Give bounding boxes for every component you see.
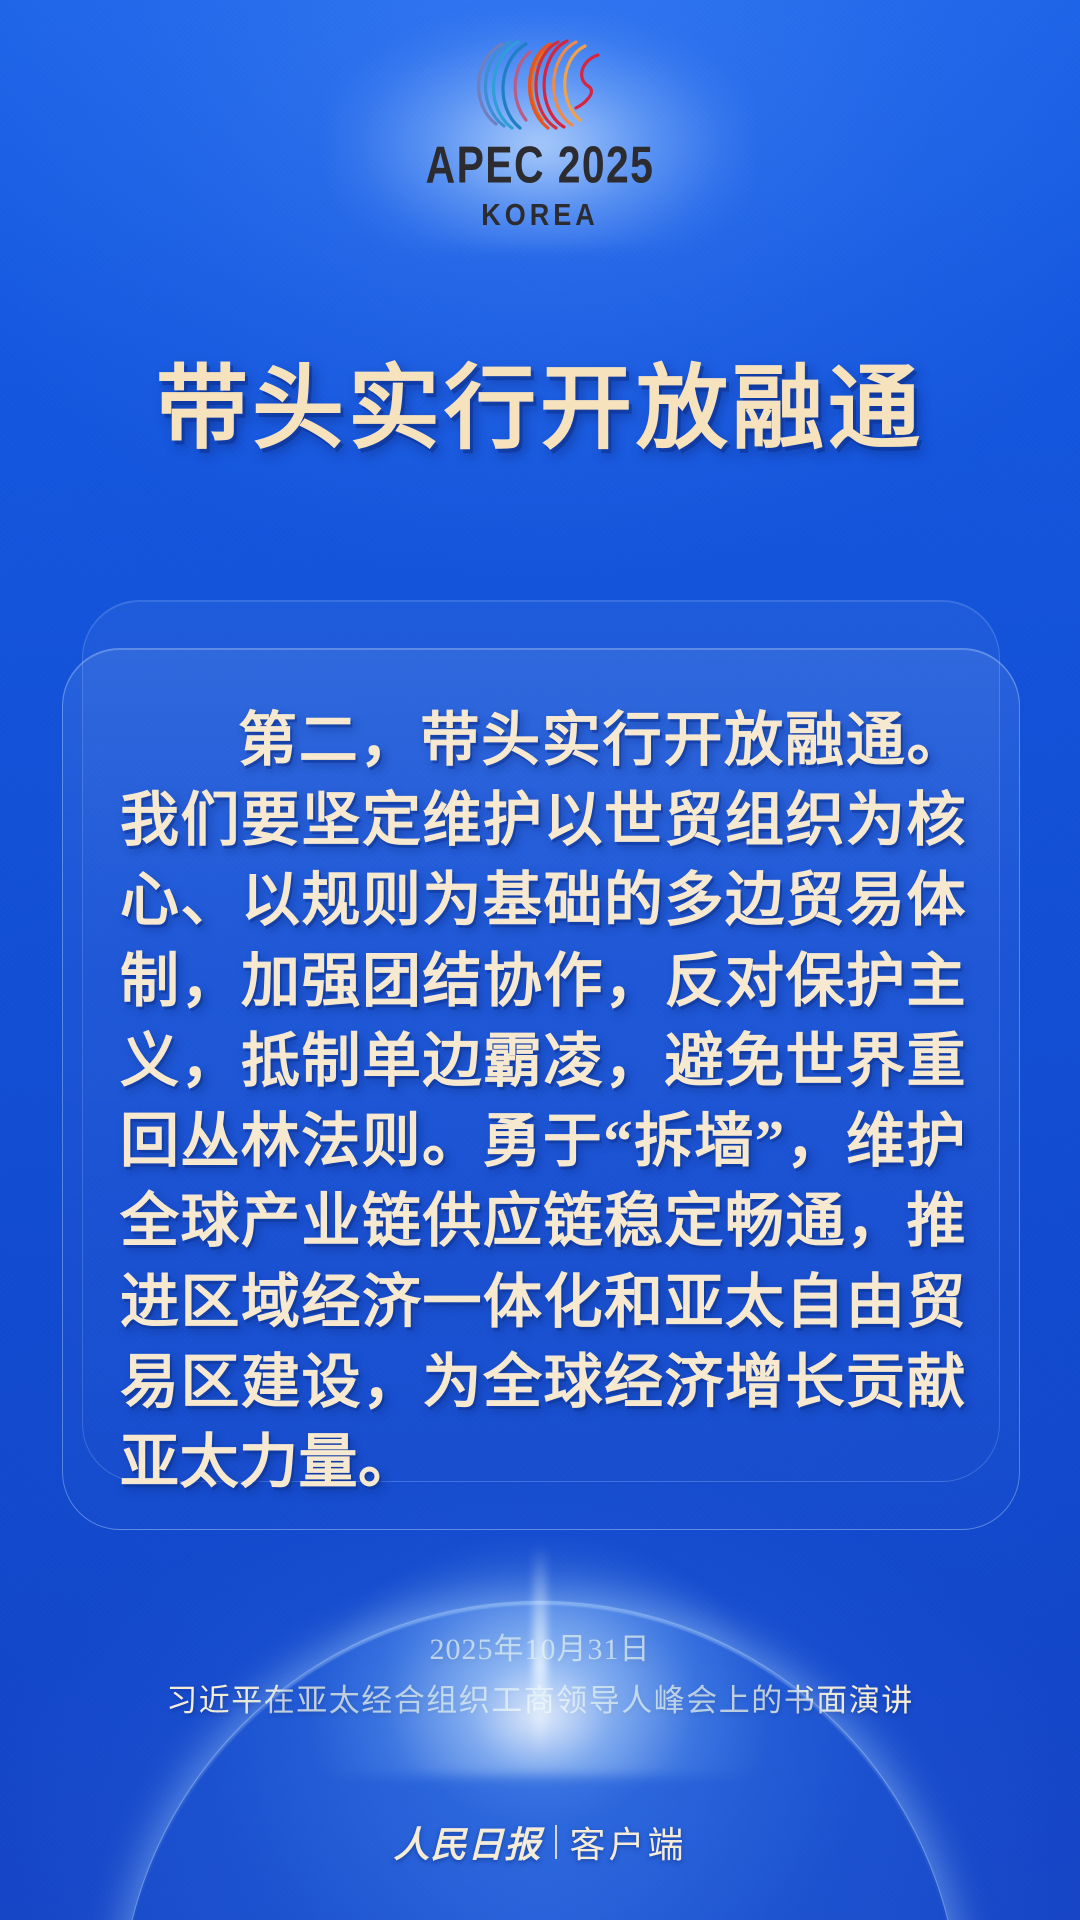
- footer-brand: 人民日报 客户端: [0, 1816, 1080, 1868]
- apec-logo-block: APEC 2025 KOREA: [0, 28, 1080, 229]
- attribution-date: 2025年10月31日: [0, 1627, 1080, 1672]
- poster-root: APEC 2025 KOREA 带头实行开放融通 第二，带头实行开放融通。我们要…: [0, 0, 1080, 1920]
- quote-paragraph: 第二，带头实行开放融通。我们要坚定维护以世贸组织为核心、以规则为基础的多边贸易体…: [120, 700, 966, 1502]
- publisher-logo: 人民日报: [393, 1816, 541, 1868]
- product-name: 客户端: [570, 1816, 687, 1868]
- attribution: 2025年10月31日 习近平在亚太经合组织工商领导人峰会上的书面演讲: [0, 1627, 1080, 1726]
- apec-2025-korea-emblem-icon: [430, 28, 650, 138]
- brand-divider: [555, 1825, 557, 1859]
- korea-wordmark: KOREA: [0, 200, 1080, 230]
- attribution-source: 习近平在亚太经合组织工商领导人峰会上的书面演讲: [0, 1676, 1080, 1726]
- apec-wordmark: APEC 2025: [38, 140, 1042, 192]
- page-title: 带头实行开放融通: [0, 334, 1080, 467]
